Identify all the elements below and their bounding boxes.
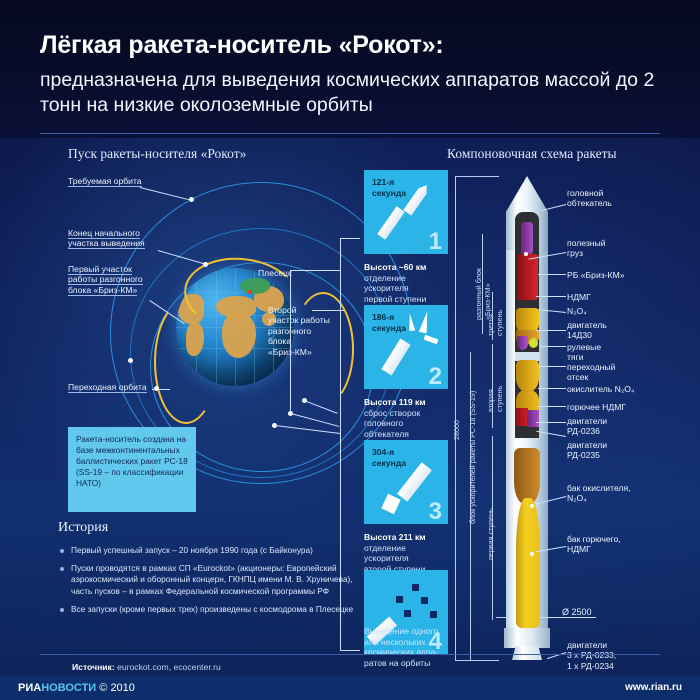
rocket-sketch-lower — [377, 206, 405, 240]
leader-stage-bottom — [340, 650, 360, 651]
stage-3-caption-bold: Высота 211 км — [364, 532, 426, 542]
stage-2-second: 186-я секунда — [372, 312, 406, 334]
dot-first-briz — [128, 358, 133, 363]
dot-transfer-orbit — [154, 386, 159, 391]
header: Лёгкая ракета-носитель «Рокот»: предназн… — [0, 0, 700, 138]
leader-briz-km — [538, 274, 566, 275]
page-title: Лёгкая ракета-носитель «Рокот»: — [40, 31, 444, 60]
leader-stage-vertical — [340, 238, 341, 438]
engine-14d30 — [517, 336, 528, 350]
label-diameter: Ø 2500 — [562, 607, 592, 617]
label-ndmg: НДМГ — [567, 292, 591, 302]
leader-steering — [540, 346, 566, 347]
label-steering-thrusters: рулевые тяги — [567, 342, 601, 363]
stage-3-number: 3 — [429, 498, 442, 526]
bracket-booster-label: блок ускорителей ракеты РС-18 (SS-19) — [468, 391, 477, 524]
debris-piece-1 — [424, 335, 439, 344]
stage-4-caption: Выведение одного или нескольких космичес… — [364, 626, 468, 668]
stage-1-second: 121-я секунда — [372, 177, 406, 199]
stage-1-caption-bold: Высота ~60 км — [364, 262, 426, 272]
leader-engine-14d30 — [536, 330, 566, 331]
label-required-orbit: Требуемая орбита — [68, 176, 142, 186]
label-first-briz-segment: Первый участок работы разгонного блока «… — [68, 264, 143, 295]
stage-2-caption-bold: Высота 119 км — [364, 397, 426, 407]
leader-oxidizer — [538, 388, 566, 389]
dot-oxidizer-tank — [530, 504, 534, 508]
ascent-arc-left — [154, 300, 218, 424]
label-engines-rd0236: двигатели РД-0236 — [567, 416, 607, 437]
label-oxidizer-n2o4: окислитель N₂O₄ — [567, 384, 634, 394]
stage-2-caption-text: сброс створок головного обтекателя — [364, 408, 420, 439]
leader-ndmg — [536, 296, 566, 297]
bracket-stage2-label: вторая ступень — [486, 386, 504, 412]
dim-total-bottom-tick — [455, 660, 499, 661]
satellite-dot-1 — [412, 584, 419, 591]
list-item: Первый успешный запуск – 20 ноября 1990 … — [71, 545, 358, 556]
dim-total-height-label: 28000 — [452, 420, 461, 440]
label-engines-bottom: двигатели 3 х РД-0233, 1 х РД-0234 — [567, 640, 616, 671]
fairing-half-right — [419, 310, 431, 333]
satellite-dot-4 — [404, 610, 411, 617]
label-plesetsk: Плесецк — [258, 268, 292, 278]
label-n2o4: N₂O₄ — [567, 306, 587, 316]
label-engine-14d30: двигатель 14Д30 — [567, 320, 607, 341]
rocket-sketch-stage2 — [381, 339, 410, 376]
leader-transition-bay — [540, 366, 566, 367]
bracket-stage1-label: первая ступень — [486, 508, 495, 560]
dim-total-top-tick — [455, 176, 499, 177]
history-title: История — [58, 520, 358, 536]
dim-total-vertical — [455, 176, 456, 660]
source-line: Источник: eurockot.com, ecocenter.ru — [72, 662, 221, 672]
stage1-oxidizer-tank — [514, 448, 540, 504]
infographic-root: Лёгкая ракета-носитель «Рокот»: предназн… — [0, 0, 700, 700]
stage-panel-1: 121-я секунда 1 — [364, 170, 448, 254]
footer-bar: РИАНОВОСТИ © 2010 www.rian.ru — [0, 676, 700, 700]
stage1-fuel-tank — [516, 498, 540, 628]
stage1-engine-skirt — [504, 628, 550, 648]
left-section-title: Пуск ракеты-носителя «Рокот» — [68, 146, 246, 162]
page-subtitle: предназначена для выведения космических … — [40, 68, 670, 118]
label-fuel-tank: бак горючего, НДМГ — [567, 534, 621, 555]
stage1-nozzles — [512, 646, 542, 660]
brand-ria: РИА — [18, 682, 41, 694]
label-second-briz-segment: Второй участок работы разгонного блока «… — [268, 305, 330, 357]
header-divider — [40, 133, 660, 134]
dot-payload — [524, 252, 528, 256]
stage-1-caption: Высота ~60 км отделение ускорителя перво… — [364, 262, 468, 304]
history-list: Первый успешный запуск – 20 ноября 1990 … — [58, 545, 358, 615]
leader-rd0236 — [536, 422, 566, 423]
history-block: История Первый успешный запуск – 20 нояб… — [58, 520, 358, 622]
stage-panel-2: 186-я секунда 2 — [364, 305, 448, 389]
satellite-dot-3 — [421, 597, 428, 604]
stage-1-caption-text: отделение ускорителя первой ступени — [364, 273, 426, 304]
dot-end-initial — [203, 262, 208, 267]
leader-panel2-link — [290, 270, 291, 412]
label-briz-km: РБ «Бриз-КМ» — [567, 270, 625, 280]
label-transition-bay: переходный отсек — [567, 362, 615, 383]
label-oxidizer-tank: бак окислителя, N₂O₄ — [567, 483, 631, 504]
label-transfer-orbit: Переходная орбита — [68, 382, 147, 392]
brand-logo: РИАНОВОСТИ © 2010 — [18, 682, 135, 694]
leader-required-orbit — [140, 187, 191, 201]
list-item: Пуски проводятся в рамках СП «Eurockot» … — [71, 563, 358, 597]
fairing-half-left — [407, 313, 415, 332]
dim-diameter-left-tick — [496, 617, 508, 618]
oxidizer-tank-stage2 — [516, 360, 539, 392]
bracket-stage3-label: третья ступень — [486, 310, 504, 336]
leader-panel2-h — [290, 270, 340, 271]
leader-stage-top — [340, 238, 360, 239]
stage-1-number: 1 — [429, 228, 442, 256]
label-payload: полезный груз — [567, 238, 606, 259]
brand-novosti: НОВОСТИ — [41, 682, 96, 694]
source-value: eurockot.com, ecocenter.ru — [117, 662, 221, 672]
dot-plesetsk — [248, 290, 252, 294]
label-end-initial-segment: Конец начального участка выведения — [68, 228, 145, 249]
source-label: Источник: — [72, 662, 115, 672]
label-fuel-ndmg: горючее НДМГ — [567, 402, 626, 412]
leader-diameter — [540, 617, 596, 618]
right-section-title: Компоновочная схема ракеты — [447, 146, 617, 162]
satellite-dot-2 — [396, 596, 403, 603]
steering-thrusters — [529, 338, 538, 348]
stage-3-caption: Высота 211 км отделение ускорителя второ… — [364, 532, 468, 574]
stage-panel-3: 304-я секунда 3 — [364, 440, 448, 524]
rocket-sketch-upper — [403, 182, 431, 216]
stage-4-caption-text: Выведение одного или нескольких космичес… — [364, 626, 438, 668]
footer-divider — [40, 654, 660, 655]
label-fairing: головной обтекатель — [567, 188, 612, 209]
payload-red — [517, 254, 538, 300]
copyright: © 2010 — [99, 682, 135, 694]
dot-fuel-tank — [530, 552, 534, 556]
satellite-dot-5 — [430, 611, 437, 618]
infobox-rocket-base: Ракета-носитель создана на базе межконти… — [68, 427, 196, 512]
separated-booster-3 — [381, 494, 400, 514]
payload-purple — [521, 222, 533, 254]
stage-2-number: 2 — [429, 363, 442, 391]
engines-rd0235 — [527, 410, 539, 427]
list-item: Все запуски (кроме первых трех) произвед… — [71, 604, 358, 615]
dot-required-orbit — [189, 197, 194, 202]
label-engines-rd0235: двигатели РД-0235 — [567, 440, 607, 461]
leader-fuel-ndmg — [538, 406, 566, 407]
site-url[interactable]: www.rian.ru — [625, 682, 682, 693]
stage-3-second: 304-я секунда — [372, 447, 406, 469]
